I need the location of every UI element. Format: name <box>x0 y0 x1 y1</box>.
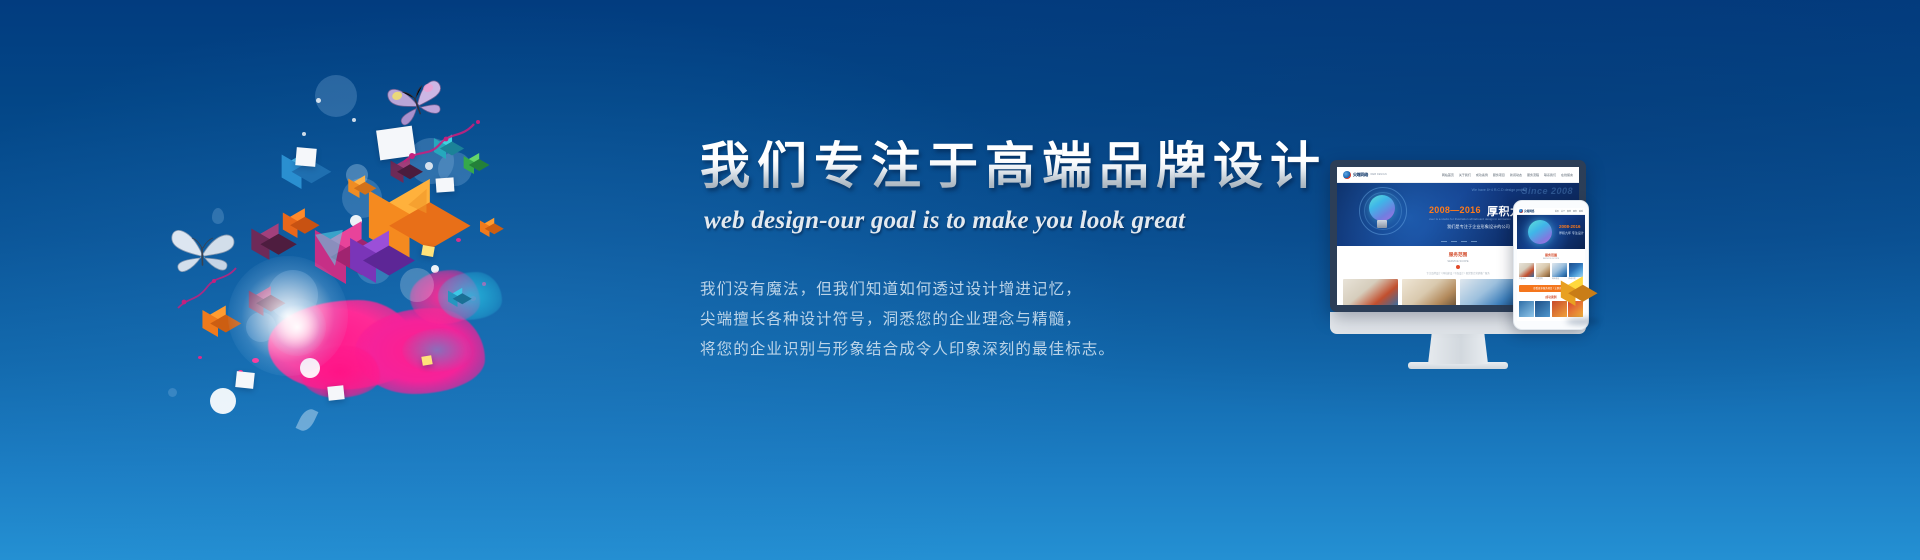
phone-hero-banner: 2008-2016 厚积九年 专注设计 <box>1517 215 1585 249</box>
site-logo-icon <box>1343 171 1351 179</box>
phone-card-thumb <box>1536 263 1551 277</box>
hero-banner: 我们专注于高端品牌设计 web design-our goal is to ma… <box>0 0 1920 560</box>
site-menu-item[interactable]: 联系我们 <box>1544 173 1556 177</box>
body-line: 将您的企业识别与形象结合成令人印象深刻的最佳标志。 <box>700 335 1320 365</box>
triangle-shard <box>315 230 348 268</box>
phone-menu-item[interactable]: 案例 <box>1567 210 1571 213</box>
phone-card-thumb <box>1519 263 1534 277</box>
page-title: 我们专注于高端品牌设计 <box>700 140 1320 193</box>
hero-slider-dots[interactable] <box>1441 241 1477 242</box>
copy-block: 我们专注于高端品牌设计 web design-our goal is to ma… <box>700 140 1320 365</box>
white-square <box>235 371 255 389</box>
site-menu-item[interactable]: 在线留言 <box>1561 173 1573 177</box>
isometric-cube-orange-small <box>346 178 372 204</box>
hero-tagline: 我们是专注于企业形象设计的公司 <box>1447 224 1510 230</box>
phone-menu-item[interactable]: 服务 <box>1573 210 1577 213</box>
isometric-cube-purple <box>346 238 406 298</box>
service-card[interactable] <box>1343 279 1398 306</box>
body-line: 我们没有魔法，但我们知道如何透过设计增进记忆， <box>700 275 1320 305</box>
hero-subtext: We have 8+4 R.C.D design project <box>1472 188 1527 192</box>
float-cube-shadow <box>1566 318 1600 325</box>
phone-card-thumb <box>1569 263 1584 277</box>
hero-english-tagline: over is a studio for illustration whiteb… <box>1429 217 1511 221</box>
phone-card-caption: 平面设计 <box>1519 278 1534 281</box>
bokeh-circle <box>352 118 356 122</box>
slider-dot[interactable] <box>1461 241 1467 242</box>
phone-card-thumb <box>1552 263 1567 277</box>
site-menu-item[interactable]: 新闻动态 <box>1510 173 1522 177</box>
phone-hero-years: 2008-2016 <box>1559 224 1581 229</box>
site-logo-text: 尖端网络 <box>1353 172 1368 178</box>
petal-shape <box>296 406 319 434</box>
white-square <box>295 147 316 167</box>
slider-dot[interactable] <box>1471 241 1477 242</box>
site-menu-item[interactable]: 服务项目 <box>1493 173 1505 177</box>
phone-menu-item[interactable]: 关于 <box>1561 210 1565 213</box>
isometric-cube-orange-small <box>478 220 500 242</box>
bokeh-circle <box>302 132 306 136</box>
magenta-squiggle <box>174 256 244 316</box>
bokeh-circle <box>315 75 357 117</box>
slider-dot[interactable] <box>1441 241 1447 242</box>
phone-card[interactable]: 平面设计 <box>1519 263 1534 281</box>
phone-menu-item[interactable]: 首页 <box>1555 210 1559 213</box>
bokeh-circle <box>400 268 434 302</box>
body-copy: 我们没有魔法，但我们知道如何透过设计增进记忆， 尖端擅长各种设计符号，洞悉您的企… <box>700 275 1320 365</box>
white-square <box>421 355 432 366</box>
white-square <box>436 177 455 192</box>
phone-logo-text: 尖端网络 <box>1524 209 1534 213</box>
site-navbar: 尖端网络 WEB DESIGN 网站首页 关于我们 成功案例 服务项目 新闻动态… <box>1337 167 1579 183</box>
phone-card[interactable]: 网站建设 <box>1552 263 1567 281</box>
bulb-base <box>1377 220 1387 228</box>
phone-section-title: 服务范围 <box>1517 253 1585 257</box>
phone-gallery-item[interactable] <box>1519 301 1534 317</box>
bokeh-circle <box>316 98 321 103</box>
phone-menu-item[interactable]: 联系 <box>1579 210 1583 213</box>
subtitle: web design-our goal is to make you look … <box>704 207 1320 235</box>
monitor-neck <box>1428 334 1488 364</box>
isometric-cube-orange-small <box>280 212 314 246</box>
isometric-cube-teal <box>446 290 468 312</box>
phone-navbar: 尖端网络 首页 关于 案例 服务 联系 <box>1517 208 1585 215</box>
site-logo-subtext: WEB DESIGN <box>1370 173 1387 176</box>
bulb-globe <box>1369 195 1395 221</box>
phone-bulb-graphic <box>1528 220 1552 244</box>
paint-splatter-teal <box>402 328 472 372</box>
site-menu-item[interactable]: 服务流程 <box>1527 173 1539 177</box>
service-card[interactable] <box>1460 279 1515 306</box>
light-burst <box>268 298 326 356</box>
phone-logo-icon <box>1519 209 1523 213</box>
phone-card-grid: 平面设计 品牌策划 网站建设 移动开发 <box>1517 260 1585 281</box>
white-square <box>421 245 435 257</box>
section-divider-dot <box>1456 265 1460 269</box>
site-menu-item[interactable]: 关于我们 <box>1459 173 1471 177</box>
phone-menu[interactable]: 首页 关于 案例 服务 联系 <box>1555 210 1583 213</box>
site-menu[interactable]: 网站首页 关于我们 成功案例 服务项目 新闻动态 服务流程 联系我们 在线留言 <box>1442 173 1573 177</box>
white-square <box>327 385 344 401</box>
phone-card-caption: 品牌策划 <box>1536 278 1551 281</box>
body-line: 尖端擅长各种设计符号，洞悉您的企业理念与精髓， <box>700 305 1320 335</box>
hero-since-text: Since 2008 <box>1521 186 1573 196</box>
magenta-squiggle <box>400 114 490 178</box>
site-menu-item[interactable]: 网站首页 <box>1442 173 1454 177</box>
bokeh-circle <box>168 388 177 397</box>
service-card[interactable] <box>1402 279 1457 306</box>
isometric-cube-gold <box>1558 280 1592 314</box>
paint-drip <box>456 238 461 242</box>
hero-years: 2008—2016 <box>1429 205 1481 215</box>
phone-card[interactable]: 品牌策划 <box>1536 263 1551 281</box>
paint-drip <box>198 356 202 359</box>
phone-hero-headline: 厚积九年 专注设计 <box>1559 231 1584 235</box>
device-mockups: 尖端网络 WEB DESIGN 网站首页 关于我们 成功案例 服务项目 新闻动态… <box>1330 160 1660 410</box>
bokeh-circle <box>210 388 236 414</box>
site-menu-item[interactable]: 成功案例 <box>1476 173 1488 177</box>
abstract-artwork <box>150 60 570 460</box>
phone-gallery-item[interactable] <box>1535 301 1550 317</box>
slider-dot[interactable] <box>1451 241 1457 242</box>
lightbulb-globe-graphic <box>1355 187 1411 243</box>
